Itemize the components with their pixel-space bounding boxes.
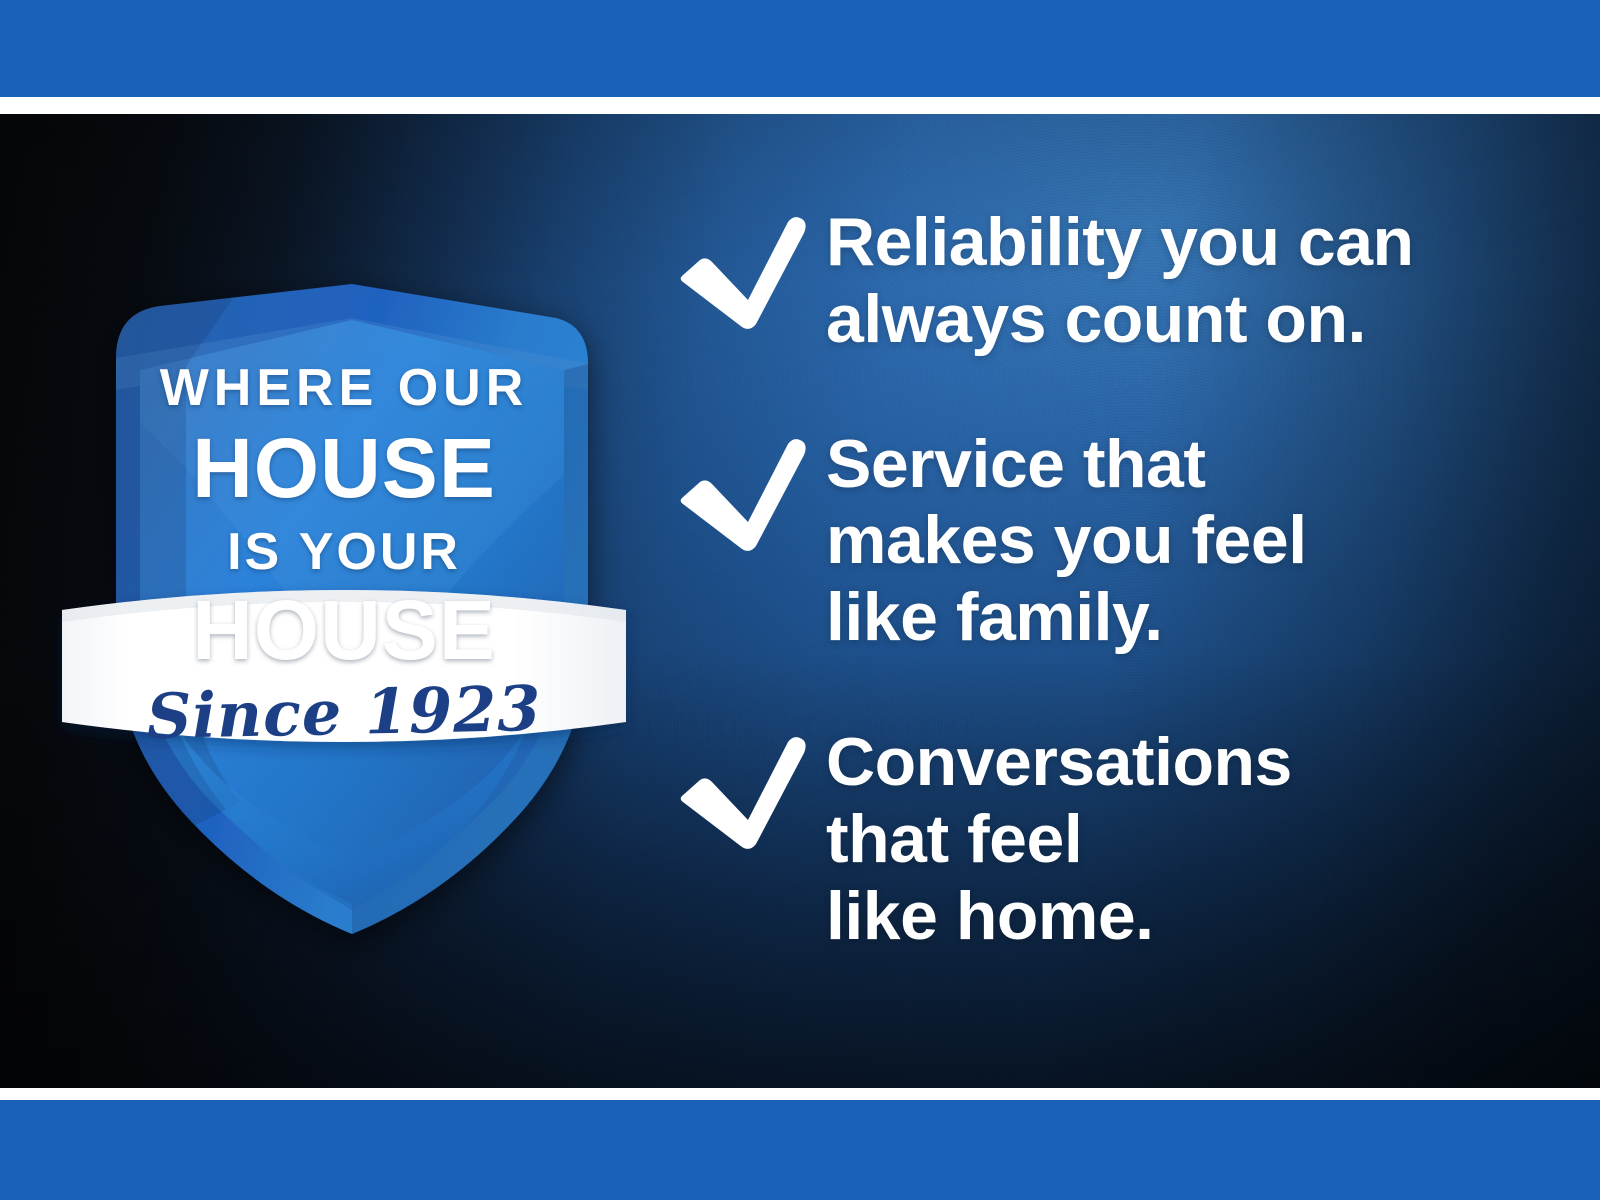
list-item-text: Service that makes you feel like family. xyxy=(826,426,1307,656)
list-item: Conversations that feel like home. xyxy=(676,724,1536,954)
shield-graphic xyxy=(64,270,624,950)
checkmark-icon xyxy=(676,204,826,332)
bottom-brand-bar xyxy=(0,1100,1600,1200)
list-item: Reliability you can always count on. xyxy=(676,204,1536,358)
promo-graphic: WHERE OUR HOUSE IS YOUR HOUSE Since 1923… xyxy=(0,0,1600,1200)
top-brand-bar xyxy=(0,0,1600,97)
list-item-text: Conversations that feel like home. xyxy=(826,724,1292,954)
bottom-white-rule xyxy=(0,1088,1600,1100)
main-panel: WHERE OUR HOUSE IS YOUR HOUSE Since 1923… xyxy=(0,114,1600,1088)
benefits-list: Reliability you can always count on. Ser… xyxy=(676,204,1536,955)
list-item-text: Reliability you can always count on. xyxy=(826,204,1414,358)
top-white-rule xyxy=(0,97,1600,114)
checkmark-icon xyxy=(676,724,826,852)
badge: WHERE OUR HOUSE IS YOUR HOUSE Since 1923 xyxy=(64,270,624,950)
list-item: Service that makes you feel like family. xyxy=(676,426,1536,656)
checkmark-icon xyxy=(676,426,826,554)
shield-ribbon xyxy=(62,590,626,742)
